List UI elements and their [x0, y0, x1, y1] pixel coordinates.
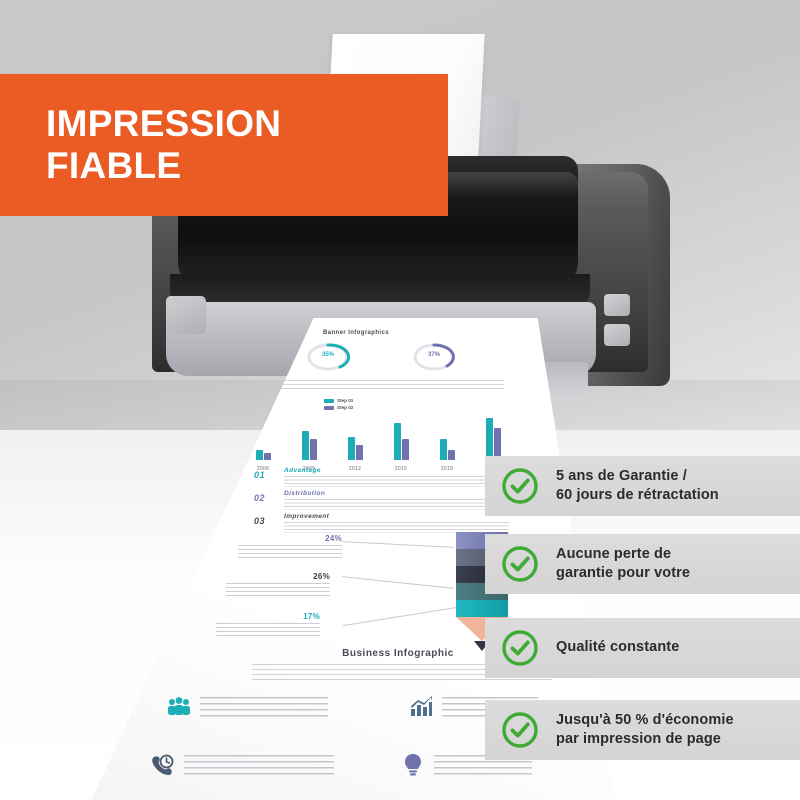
icon-cell-body — [200, 697, 328, 717]
callout-text: 5 ans de Garantie / 60 jours de rétracta… — [556, 467, 719, 505]
bar-step-01 — [256, 450, 263, 460]
pencil-stat-3: 17% — [216, 612, 320, 636]
icon-cell-body — [184, 755, 334, 775]
printer-button-right-top[interactable] — [604, 294, 630, 316]
pencil-stat-2: 26% — [226, 572, 330, 596]
icon-cell-people — [166, 694, 328, 720]
step-number: 01 — [254, 470, 265, 480]
bar-group — [486, 418, 501, 461]
callout-guarantee[interactable]: 5 ans de Garantie / 60 jours de rétracta… — [485, 456, 800, 516]
legend-item-step-01: Step 01 — [324, 398, 353, 403]
pencil-stat-value: 17% — [216, 612, 320, 621]
callout-text: Qualité constante — [556, 638, 679, 657]
step-title: Improvement — [284, 513, 329, 520]
callout-text: Jusqu'à 50 % d'économie par impression d… — [556, 711, 734, 749]
donut-label-2: 37% — [412, 352, 456, 358]
clock-phone-icon — [150, 752, 176, 778]
donut-chart-1: 35% — [306, 342, 350, 372]
pencil-stat-value: 24% — [238, 534, 342, 543]
bar-step-02 — [448, 450, 455, 460]
bar-step-02 — [264, 453, 271, 460]
leader-line — [342, 541, 454, 548]
bar-step-01 — [486, 418, 493, 461]
bar-step-02 — [310, 439, 317, 460]
bar-step-01 — [440, 439, 447, 460]
leader-line — [343, 607, 458, 626]
growth-chart-icon — [408, 694, 434, 720]
bar-group — [256, 450, 271, 460]
callout-savings[interactable]: Jusqu'à 50 % d'économie par impression d… — [485, 700, 800, 760]
headline-line-1: IMPRESSION — [46, 103, 448, 145]
pencil-stat-body — [216, 623, 320, 636]
donut-label-1: 35% — [306, 352, 350, 358]
pencil-stat-value: 26% — [226, 572, 330, 581]
bar-step-02 — [402, 439, 409, 460]
business-infographic-title: Business Infographic — [288, 648, 508, 659]
icon-cell-clock — [150, 752, 334, 778]
pencil-stat-1: 24% — [238, 534, 342, 558]
bar-group — [440, 439, 455, 460]
printer-button-left[interactable] — [166, 296, 206, 334]
lightbulb-icon — [400, 752, 426, 778]
check-circle-icon — [501, 629, 539, 667]
legend-label: Step 01 — [337, 398, 353, 403]
bar-step-01 — [348, 437, 355, 460]
step-number: 03 — [254, 516, 265, 526]
step-title: Advantage — [284, 467, 321, 474]
printer-button-right-bottom[interactable] — [604, 324, 630, 346]
leader-line — [342, 576, 453, 589]
headline-line-2: FIABLE — [46, 145, 448, 187]
callout-quality[interactable]: Qualité constante — [485, 618, 800, 678]
bar-step-01 — [302, 431, 309, 460]
step-title: Distribution — [284, 490, 325, 497]
callout-text: Aucune perte de garantie pour votre — [556, 545, 690, 583]
callout-no-warranty-loss[interactable]: Aucune perte de garantie pour votre — [485, 534, 800, 594]
step-body-lines — [284, 476, 509, 487]
pencil-stat-body — [226, 583, 330, 596]
printout-paragraph — [254, 380, 504, 392]
people-group-icon — [166, 694, 192, 720]
check-circle-icon — [501, 467, 539, 505]
bar-group — [302, 431, 317, 460]
legend-swatch-icon — [324, 399, 334, 403]
bar-step-01 — [394, 423, 401, 460]
bar-group — [394, 423, 409, 460]
step-body-lines — [284, 499, 509, 510]
step-number: 02 — [254, 493, 265, 503]
check-circle-icon — [501, 545, 539, 583]
donut-chart-2: 37% — [412, 342, 456, 372]
pencil-stat-body — [238, 545, 342, 558]
promo-image: Banner Infographics 35% 37% — [0, 0, 800, 800]
bar-step-02 — [356, 445, 363, 460]
donut-chart-row: 35% 37% — [306, 342, 506, 378]
bar-group — [348, 437, 363, 460]
check-circle-icon — [501, 711, 539, 749]
headline-banner: IMPRESSION FIABLE — [0, 74, 448, 216]
